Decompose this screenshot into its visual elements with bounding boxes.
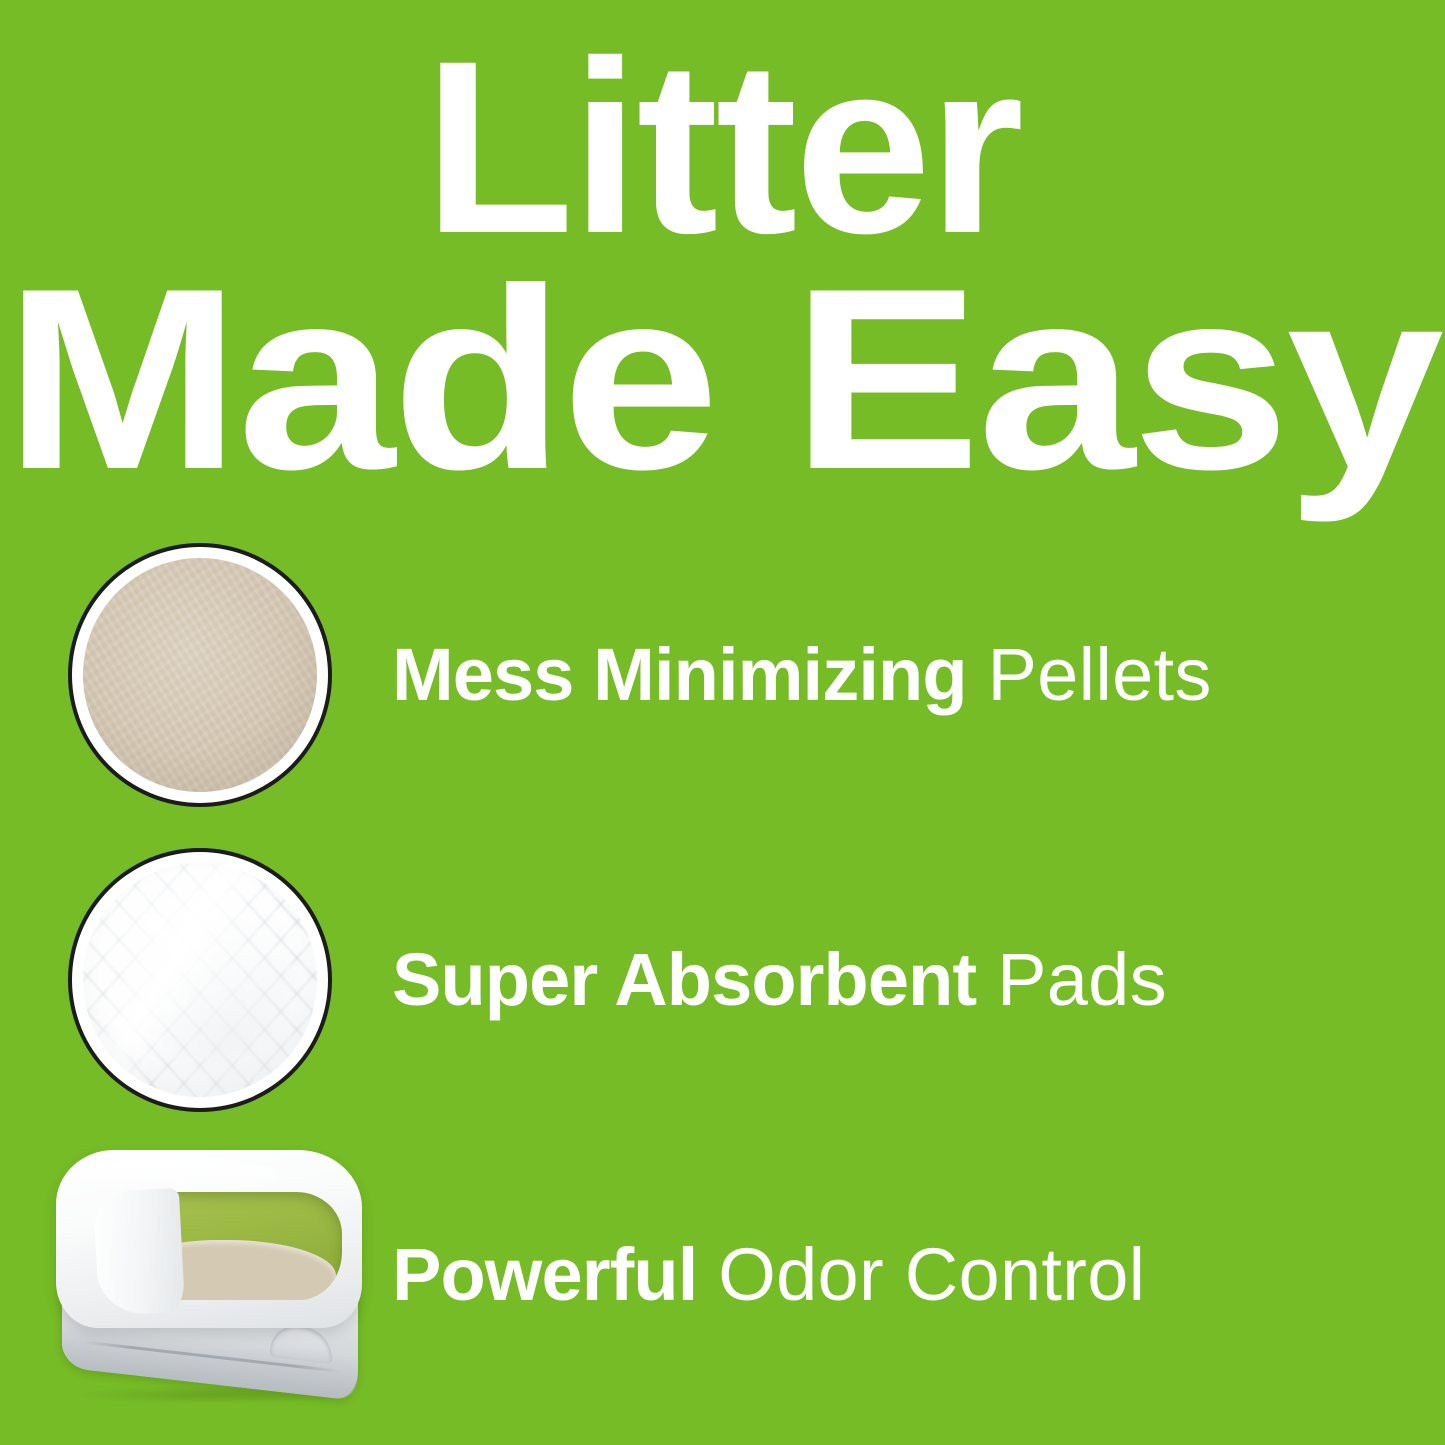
litter-box-image — [48, 1144, 370, 1406]
pellets-circle-white-ring — [72, 547, 328, 803]
feature-label-pads-light: Pads — [976, 938, 1167, 1021]
feature-label-pads-strong: Super Absorbent — [392, 938, 976, 1021]
feature-media-litterbox — [0, 1140, 400, 1410]
pellets-vignette — [83, 558, 317, 792]
feature-row-pellets: Mess Minimizing Pellets — [0, 540, 1445, 810]
feature-label-odor-strong: Powerful — [392, 1233, 697, 1316]
absorbent-pad-circle-image — [68, 848, 332, 1112]
headline-line-2: Made Easy — [0, 255, 1445, 503]
feature-row-pads: Super Absorbent Pads — [0, 845, 1445, 1115]
feature-label-pellets-light: Pellets — [967, 633, 1212, 716]
pad-circle-white-ring — [72, 852, 328, 1108]
pad-circle-photo — [83, 863, 317, 1097]
feature-label-pellets-strong: Mess Minimizing — [392, 633, 967, 716]
litter-box-handle — [270, 1323, 332, 1364]
feature-label-pellets: Mess Minimizing Pellets — [392, 638, 1445, 712]
litter-box-rim-highlight — [70, 1158, 280, 1194]
litter-box-inner-wall — [93, 1188, 185, 1316]
pellets-circle-photo — [83, 558, 317, 792]
pellets-circle-image — [68, 543, 332, 807]
feature-label-odor-light: Odor Control — [697, 1233, 1145, 1316]
pad-vignette — [83, 863, 317, 1097]
litter-box-rim — [56, 1150, 362, 1328]
feature-label-odor: Powerful Odor Control — [392, 1238, 1445, 1312]
feature-media-pellets — [0, 540, 400, 810]
page-title: Litter Made Easy — [0, 34, 1445, 502]
feature-row-odor: Powerful Odor Control — [0, 1140, 1445, 1410]
poster-root: Litter Made Easy Mess Minimizing Pellets — [0, 0, 1445, 1445]
pad-surface — [83, 863, 317, 1097]
feature-media-pads — [0, 845, 400, 1115]
feature-label-pads: Super Absorbent Pads — [392, 943, 1445, 1017]
headline-line-1: Litter — [0, 34, 1445, 263]
